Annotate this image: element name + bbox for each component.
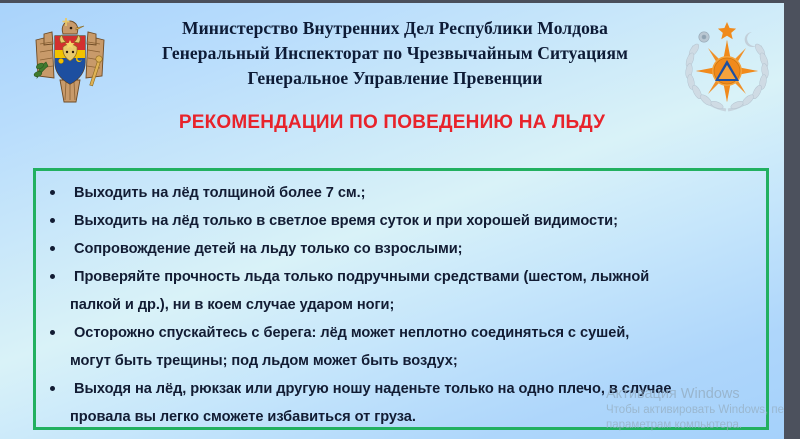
bullet-icon	[50, 330, 55, 335]
recommendations-list: Выходить на лёд толщиной более 7 см.; Вы…	[42, 179, 760, 431]
list-item: Выходить на лёд только в светлое время с…	[42, 207, 760, 235]
list-item: Сопровождение детей на льду только со вз…	[42, 235, 760, 263]
header-title-block: Министерство Внутренних Дел Республики М…	[120, 16, 670, 91]
igsu-emblem-icon	[672, 14, 782, 112]
bullet-icon	[50, 246, 55, 251]
bullet-icon	[50, 274, 55, 279]
slide-header: Министерство Внутренних Дел Республики М…	[0, 6, 784, 106]
window-top-edge	[0, 0, 800, 3]
list-item: Осторожно спускайтесь с берега: лёд може…	[42, 319, 760, 375]
list-item: Проверяйте прочность льда только подручн…	[42, 263, 760, 319]
list-item-line-2: провала вы легко сможете избавиться от г…	[70, 403, 760, 431]
list-item: Выходить на лёд толщиной более 7 см.;	[42, 179, 760, 207]
list-item-line-1: Выходить на лёд только в светлое время с…	[74, 213, 618, 229]
list-item: Выходя на лёд, рюкзак или другую ношу на…	[42, 375, 760, 431]
header-line-1: Министерство Внутренних Дел Республики М…	[120, 16, 670, 41]
bullet-icon	[50, 218, 55, 223]
list-item-line-1: Выходить на лёд толщиной более 7 см.;	[74, 185, 365, 201]
moldova-coat-of-arms-icon	[22, 14, 118, 106]
list-item-line-1: Выходя на лёд, рюкзак или другую ношу на…	[74, 381, 671, 397]
list-item-line-2: могут быть трещины; под льдом может быть…	[70, 347, 760, 375]
presentation-slide: Министерство Внутренних Дел Республики М…	[0, 0, 800, 439]
header-line-2: Генеральный Инспекторат по Чрезвычайным …	[120, 41, 670, 66]
list-item-line-1: Сопровождение детей на льду только со вз…	[74, 241, 462, 257]
bullet-icon	[50, 190, 55, 195]
bullet-icon	[50, 386, 55, 391]
page-title: РЕКОМЕНДАЦИИ ПО ПОВЕДЕНИЮ НА ЛЬДУ	[0, 112, 784, 134]
recommendations-box: Выходить на лёд толщиной более 7 см.; Вы…	[33, 168, 769, 430]
list-item-line-2: палкой и др.), ни в коем случае ударом н…	[70, 291, 760, 319]
list-item-line-1: Проверяйте прочность льда только подручн…	[74, 269, 649, 285]
list-item-line-1: Осторожно спускайтесь с берега: лёд може…	[74, 325, 629, 341]
header-line-3: Генеральное Управление Превенции	[120, 66, 670, 91]
window-right-edge	[784, 0, 800, 439]
